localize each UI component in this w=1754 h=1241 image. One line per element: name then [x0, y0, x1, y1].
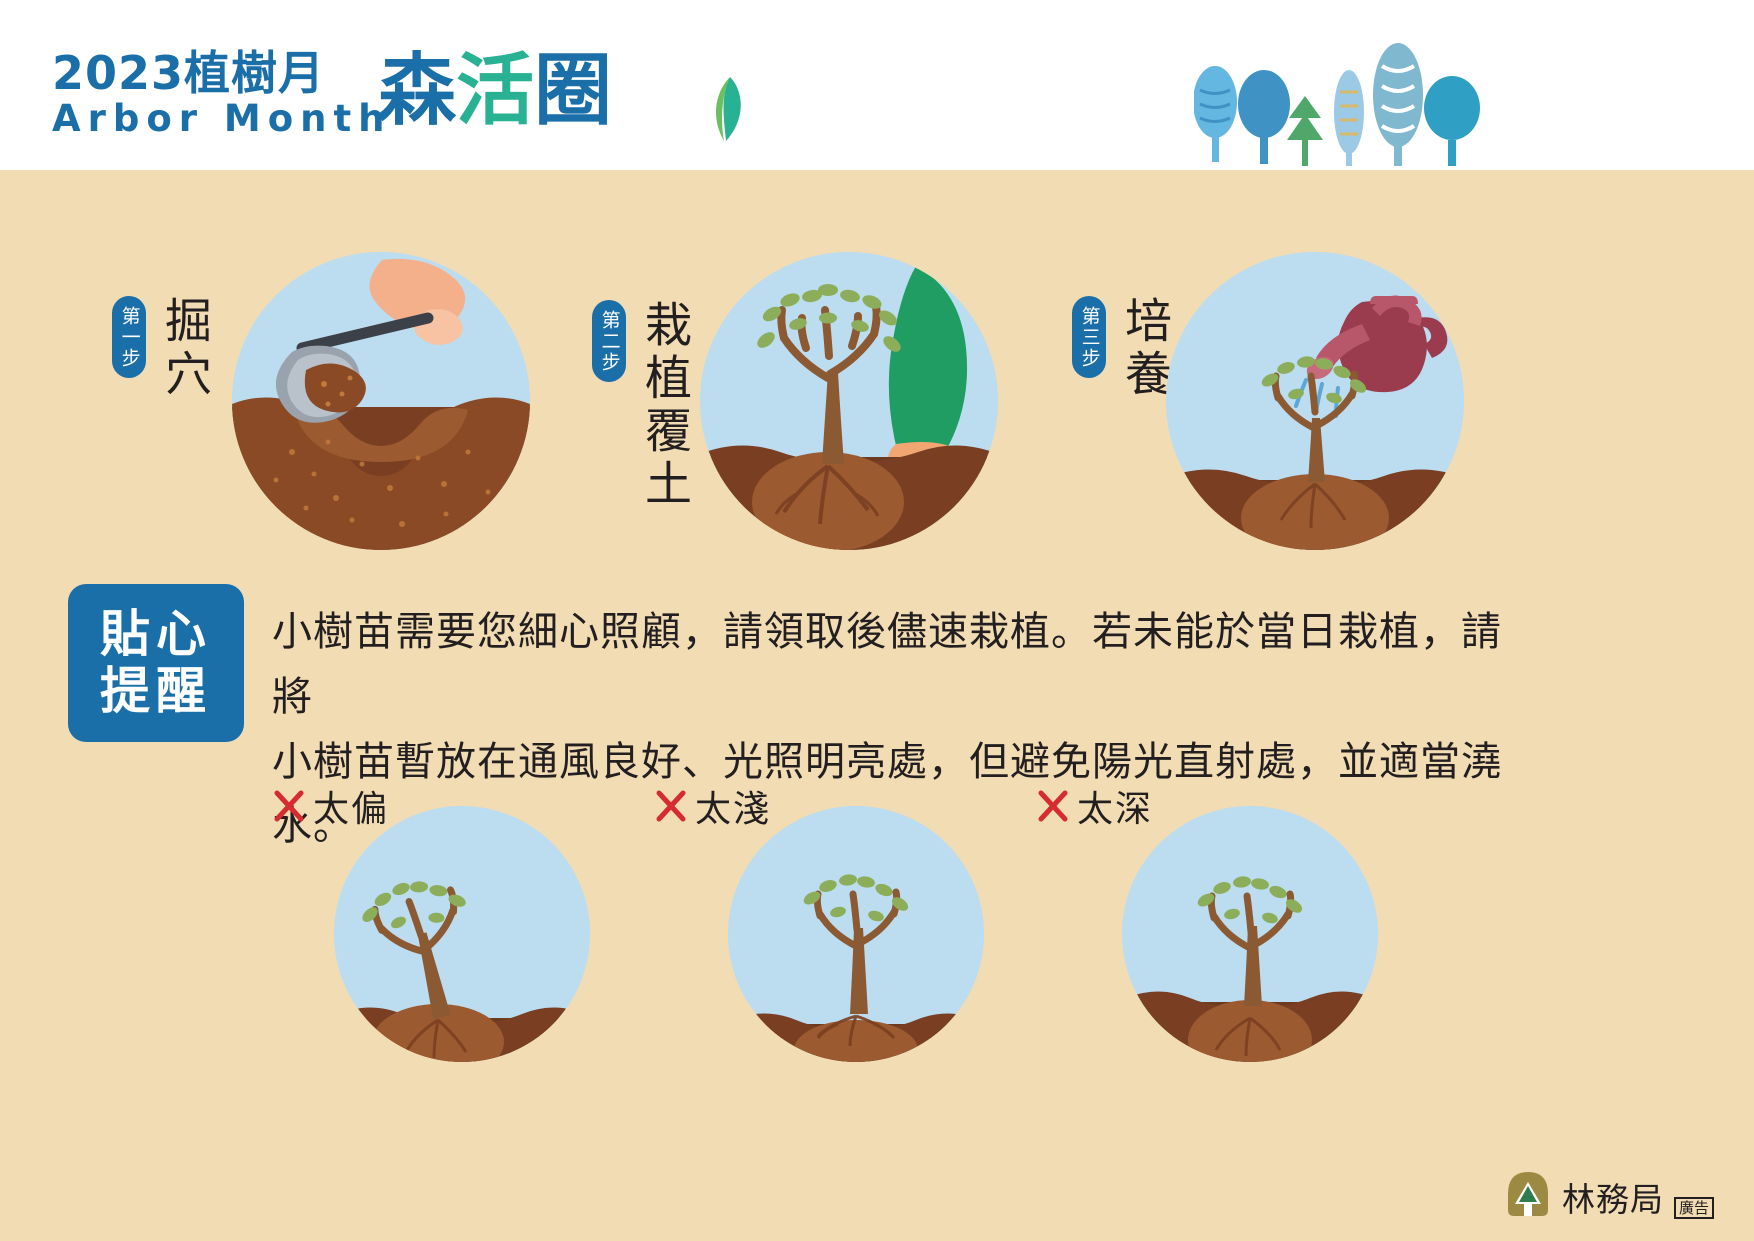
leaf-icon: [700, 75, 748, 150]
step-1-label: 第一步 掘穴: [112, 296, 207, 402]
footer-organization-name: 林務局: [1562, 1173, 1664, 1221]
year-title: 2023植樹月: [52, 50, 392, 96]
step-3-title: 培養: [1120, 296, 1167, 402]
step-1-illustration: [232, 252, 530, 550]
ad-tag: 廣告: [1674, 1197, 1714, 1220]
bad-example-1-text: 太偏: [313, 780, 389, 832]
bad-example-3-illustration: [1122, 806, 1378, 1062]
bad-example-1-illustration: [334, 806, 590, 1062]
step-1-badge: 第一步: [112, 296, 146, 378]
bad-example-3-text: 太深: [1077, 780, 1153, 832]
bad-example-2-label: 太淺: [654, 780, 771, 832]
step-1-title: 掘穴: [160, 296, 207, 402]
cross-icon: [654, 789, 688, 823]
forestry-bureau-logo-icon: [1504, 1170, 1552, 1223]
step-3-label: 第三步 培養: [1072, 296, 1167, 402]
step-3-badge: 第三步: [1072, 296, 1106, 378]
tip-badge-line-2: 提醒: [100, 663, 212, 721]
footer: 林務局 廣告: [1504, 1170, 1714, 1223]
header-trees-decoration: [1194, 40, 1484, 175]
bad-example-1-label: 太偏: [272, 780, 389, 832]
tip-badge-line-1: 貼心: [100, 606, 212, 664]
english-title: Arbor Month: [52, 98, 392, 141]
brand-char-3: 圈: [534, 46, 612, 136]
bad-example-2-text: 太淺: [695, 780, 771, 832]
step-3-illustration: [1166, 252, 1464, 550]
cross-icon: [1036, 789, 1070, 823]
brand-char-2: 活: [456, 46, 534, 136]
page-header: 2023植樹月 Arbor Month 森活圈: [0, 0, 1754, 170]
tip-badge: 貼心 提醒: [68, 584, 244, 742]
step-2-illustration: [700, 252, 998, 550]
step-2-label: 第二步 栽植覆土: [592, 300, 687, 512]
brand-char-1: 森: [378, 46, 456, 136]
bad-example-3-label: 太深: [1036, 780, 1153, 832]
title-block: 2023植樹月 Arbor Month: [52, 50, 392, 141]
step-2-badge: 第二步: [592, 300, 626, 382]
tip-paragraph-line-1: 小樹苗需要您細心照顧，請領取後儘速栽植。若未能於當日栽植，請將: [272, 600, 1502, 730]
cross-icon: [272, 789, 306, 823]
brand-logo: 森活圈: [378, 52, 612, 130]
step-2-title: 栽植覆土: [640, 300, 687, 512]
bad-example-2-illustration: [728, 806, 984, 1062]
